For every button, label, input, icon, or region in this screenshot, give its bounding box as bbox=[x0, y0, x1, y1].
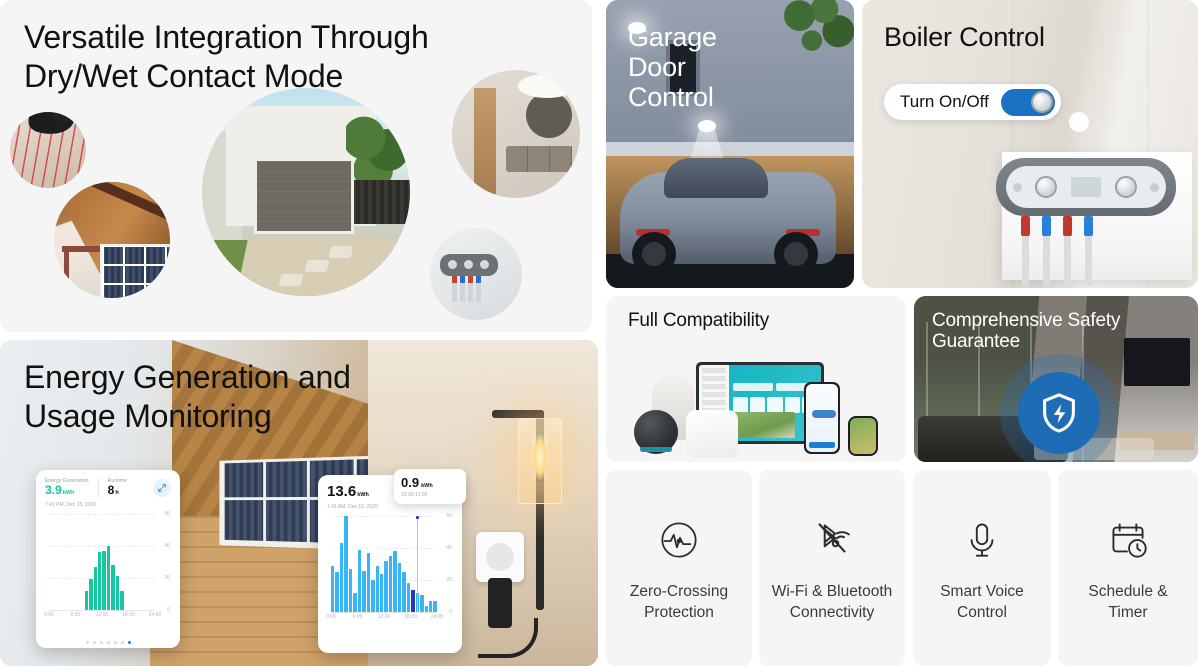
panel-full-compatibility: Full Compatibility bbox=[606, 296, 906, 462]
bar bbox=[94, 567, 97, 610]
bar bbox=[85, 591, 88, 610]
feature-label: Schedule & Timer bbox=[1088, 582, 1167, 624]
feature-card-schedule-timer[interactable]: Schedule & Timer bbox=[1058, 470, 1198, 666]
toggle-label: Turn On/Off bbox=[900, 92, 989, 112]
bar bbox=[429, 601, 432, 612]
bar bbox=[380, 574, 383, 612]
widget-header: Energy Generation 3.9kWh Runtime 8h bbox=[45, 478, 171, 498]
usage-bar-chart: 0204060 0:006:0012:0018:0024:00 bbox=[327, 516, 453, 624]
x-axis-tick: 24:00 bbox=[431, 614, 444, 620]
boiler-toggle-control[interactable]: Turn On/Off bbox=[884, 84, 1061, 120]
bar bbox=[98, 552, 101, 610]
widget-energy-usage[interactable]: 13.6kWh 7:41 AM, Dec 15, 2020 0.9kWh 10:… bbox=[318, 475, 462, 653]
bar bbox=[331, 566, 334, 612]
x-axis-tick: 6:00 bbox=[353, 614, 363, 620]
widget-energy-generation[interactable]: Energy Generation 3.9kWh Runtime 8h 7:41… bbox=[36, 470, 180, 648]
bar bbox=[389, 556, 392, 612]
bar bbox=[89, 579, 92, 609]
bar-series bbox=[49, 514, 155, 610]
y-axis-tick: 20 bbox=[164, 575, 170, 581]
widget-timestamp: 7:41 AM, Dec 15, 2020 bbox=[327, 504, 453, 510]
bar bbox=[393, 551, 396, 612]
schedule-timer-icon bbox=[1103, 512, 1153, 568]
bar bbox=[376, 566, 379, 612]
feature-label: Zero-Crossing Protection bbox=[630, 582, 728, 624]
feature-card-wifi-bluetooth[interactable]: Wi-Fi & Bluetooth Connectivity bbox=[759, 470, 905, 666]
smart-speaker-round bbox=[634, 410, 678, 454]
bar bbox=[340, 543, 343, 612]
y-axis-tick: 40 bbox=[164, 543, 170, 549]
car-illustration bbox=[620, 172, 836, 264]
bar bbox=[433, 601, 436, 612]
page-dot[interactable] bbox=[128, 641, 131, 644]
smart-hub bbox=[686, 410, 738, 458]
page-dot[interactable] bbox=[100, 641, 103, 644]
feature-card-zero-crossing[interactable]: Zero-Crossing Protection bbox=[606, 470, 752, 666]
bar bbox=[384, 561, 387, 612]
bar bbox=[349, 569, 352, 612]
circle-floor-heating bbox=[10, 112, 86, 188]
feature-label: Wi-Fi & Bluetooth Connectivity bbox=[772, 582, 893, 624]
x-axis-tick: 0:00 bbox=[326, 614, 336, 620]
bar bbox=[102, 551, 105, 610]
zero-crossing-icon bbox=[654, 512, 704, 568]
widget-timestamp: 7:41 PM, Dec 15, 2020 bbox=[45, 502, 171, 508]
garage-light-icon bbox=[698, 120, 716, 132]
smart-plug bbox=[476, 532, 524, 582]
feature-card-voice-control[interactable]: Smart Voice Control bbox=[913, 470, 1051, 666]
feature-label: Smart Voice Control bbox=[940, 582, 1024, 624]
x-axis-tick: 18:00 bbox=[122, 612, 135, 618]
bar bbox=[407, 583, 410, 612]
wifi-bluetooth-icon bbox=[807, 512, 857, 568]
panel-versatile-integration: Versatile Integration Through Dry/Wet Co… bbox=[0, 0, 592, 332]
bar bbox=[371, 580, 374, 612]
tooltip-value: 0.9kWh bbox=[401, 475, 459, 490]
bar bbox=[367, 553, 370, 612]
y-axis-tick: 40 bbox=[446, 545, 452, 551]
metric-energy-usage: 13.6kWh bbox=[327, 483, 378, 500]
compatibility-title: Full Compatibility bbox=[628, 310, 769, 331]
page-dot[interactable] bbox=[107, 641, 110, 644]
smartwatch-device bbox=[848, 416, 878, 456]
marker-line bbox=[417, 518, 418, 612]
bar bbox=[420, 595, 423, 613]
tooltip-range: 10:00-11:00 bbox=[401, 492, 459, 498]
y-axis-tick: 0 bbox=[167, 607, 170, 613]
product-feature-collage: Versatile Integration Through Dry/Wet Co… bbox=[0, 0, 1198, 666]
y-axis-tick: 0 bbox=[449, 609, 452, 615]
bar bbox=[335, 572, 338, 612]
safety-title: Comprehensive Safety Guarantee bbox=[932, 310, 1120, 353]
y-axis-tick: 60 bbox=[164, 511, 170, 517]
page-dot[interactable] bbox=[114, 641, 117, 644]
bar bbox=[362, 571, 365, 613]
bar bbox=[344, 516, 347, 612]
page-indicator-dots[interactable] bbox=[36, 641, 180, 644]
x-axis-tick: 24:00 bbox=[149, 612, 162, 618]
x-axis-tick: 6:00 bbox=[71, 612, 81, 618]
bar bbox=[120, 591, 123, 610]
bar bbox=[116, 576, 119, 610]
metric-energy-generation: Energy Generation 3.9kWh bbox=[45, 478, 98, 498]
x-axis-tick: 12:00 bbox=[96, 612, 109, 618]
metric-value: 13.6kWh bbox=[327, 483, 369, 500]
bar bbox=[111, 565, 114, 610]
x-axis-tick: 18:00 bbox=[404, 614, 417, 620]
lamp-bulb bbox=[532, 432, 548, 482]
metric-runtime: Runtime 8h bbox=[98, 478, 136, 498]
circle-wall-switch bbox=[452, 70, 580, 198]
bar-series bbox=[331, 516, 437, 612]
x-axis-tick: 12:00 bbox=[378, 614, 391, 620]
bar bbox=[353, 593, 356, 612]
boiler-control-panel bbox=[996, 158, 1176, 216]
bar bbox=[402, 572, 405, 612]
energy-title: Energy Generation and Usage Monitoring bbox=[24, 358, 351, 436]
toggle-knob bbox=[1031, 91, 1053, 113]
circle-solar-chalet bbox=[54, 182, 170, 298]
bar bbox=[398, 563, 401, 613]
versatile-title: Versatile Integration Through Dry/Wet Co… bbox=[24, 18, 429, 96]
bar bbox=[107, 546, 110, 610]
bar bbox=[358, 550, 361, 612]
marker-dot bbox=[416, 516, 419, 519]
panel-garage-door-control: Garage Door Control bbox=[606, 0, 854, 288]
generation-bar-chart: 0204060 0:006:0012:0018:0024:00 bbox=[45, 514, 171, 622]
metric-value: 8h bbox=[108, 484, 127, 498]
circle-boiler-unit bbox=[430, 228, 522, 320]
y-axis-tick: 60 bbox=[446, 513, 452, 519]
chart-tooltip: 0.9kWh 10:00-11:00 bbox=[394, 469, 466, 504]
expand-icon[interactable] bbox=[153, 479, 171, 497]
page-dot[interactable] bbox=[86, 641, 89, 644]
bar bbox=[411, 590, 414, 612]
y-axis-tick: 20 bbox=[446, 577, 452, 583]
microphone-icon bbox=[957, 512, 1007, 568]
boiler-lcd-display bbox=[1071, 177, 1101, 197]
garage-title: Garage Door Control bbox=[628, 22, 646, 34]
smartphone-device bbox=[804, 382, 840, 454]
page-dot[interactable] bbox=[93, 641, 96, 644]
panel-boiler-control: Boiler Control Turn On/Off bbox=[862, 0, 1198, 288]
smart-button-dot bbox=[1069, 112, 1089, 132]
circle-garage-house bbox=[202, 88, 410, 296]
page-dot[interactable] bbox=[121, 641, 124, 644]
panel-safety-guarantee: Comprehensive Safety Guarantee bbox=[914, 296, 1198, 462]
metric-value: 3.9kWh bbox=[45, 484, 89, 498]
shield-bolt-icon bbox=[1018, 372, 1100, 454]
device-cluster bbox=[634, 358, 884, 458]
boiler-title: Boiler Control bbox=[884, 22, 1045, 52]
toggle-switch[interactable] bbox=[1001, 89, 1055, 116]
x-axis-tick: 0:00 bbox=[44, 612, 54, 618]
